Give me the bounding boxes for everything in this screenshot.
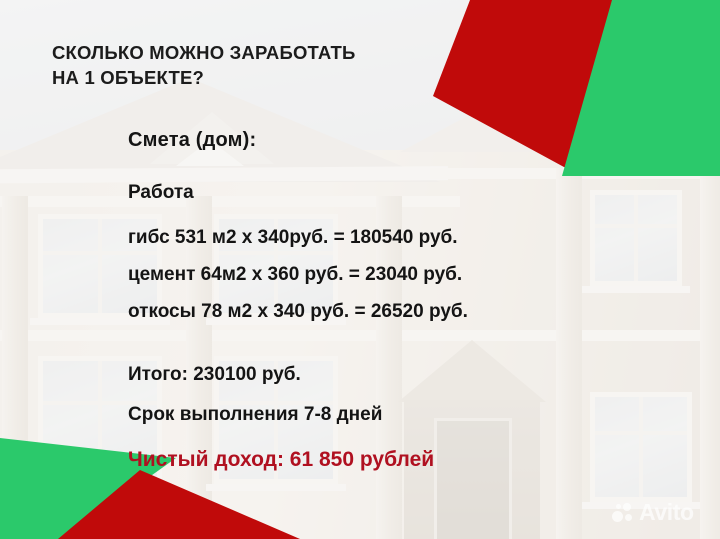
estimate-subheading: Работа [128,182,194,204]
estimate-item: гибс 531 м2 х 340руб. = 180540 руб. [128,219,468,256]
title-line-1: СКОЛЬКО МОЖНО ЗАРАБОТАТЬ [52,42,356,63]
estimate-item-list: гибс 531 м2 х 340руб. = 180540 руб. цеме… [128,219,468,330]
title-line-2: НА 1 ОБЪЕКТЕ? [52,65,482,90]
avito-watermark: Avito [612,501,694,524]
estimate-item: откосы 78 м2 х 340 руб. = 26520 руб. [128,293,468,330]
estimate-item: цемент 64м2 х 360 руб. = 23040 руб. [128,256,468,293]
estimate-totals: Итого: 230100 руб. Срок выполнения 7-8 д… [128,355,382,435]
text-content: СКОЛЬКО МОЖНО ЗАРАБОТАТЬ НА 1 ОБЪЕКТЕ? С… [0,0,720,539]
page-title: СКОЛЬКО МОЖНО ЗАРАБОТАТЬ НА 1 ОБЪЕКТЕ? [52,40,482,90]
estimate-heading: Смета (дом): [128,129,256,152]
estimate-total: Итого: 230100 руб. [128,355,382,395]
avito-dots-icon [612,502,634,523]
avito-brand-label: Avito [639,501,694,524]
estimate-duration: Срок выполнения 7-8 дней [128,395,382,435]
promo-image: СКОЛЬКО МОЖНО ЗАРАБОТАТЬ НА 1 ОБЪЕКТЕ? С… [0,0,720,539]
net-profit: Чистый доход: 61 850 рублей [128,448,434,472]
